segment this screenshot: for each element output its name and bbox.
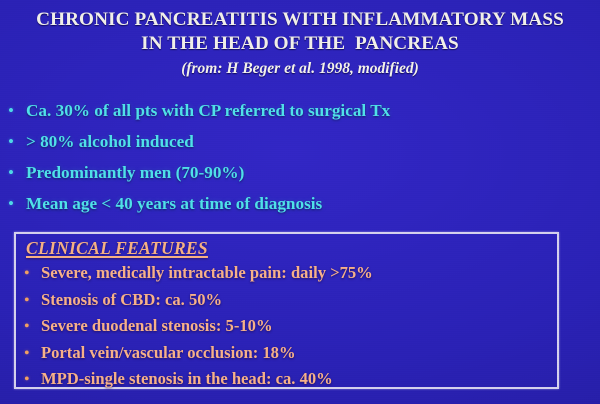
bullet-dot-icon: • [6,160,26,186]
bullet-dot-icon: • [6,98,26,124]
feature-item-text: Portal vein/vascular occlusion: 18% [41,340,554,365]
feature-item-text: Severe duodenal stenosis: 5-10% [41,313,554,338]
feature-item-text: Severe, medically intractable pain: dail… [41,260,554,285]
clinical-features-box: CLINICAL FEATURES • Severe, medically in… [14,232,559,389]
bullet-dot-icon: • [22,314,41,339]
clinical-features-heading: CLINICAL FEATURES [26,237,208,259]
bullet-dot-icon: • [6,191,26,217]
bullet-dot-icon: • [22,367,41,392]
bullet-dot-icon: • [6,129,26,155]
feature-item-text: Stenosis of CBD: ca. 50% [41,287,554,312]
slide-title-line-1: CHRONIC PANCREATITIS WITH INFLAMMATORY M… [0,8,600,32]
feature-list-item: • Stenosis of CBD: ca. 50% [22,287,554,314]
intro-bullet-text: Mean age < 40 years at time of diagnosis [26,191,594,217]
slide-title-block: CHRONIC PANCREATITIS WITH INFLAMMATORY M… [0,8,600,79]
bullet-dot-icon: • [22,261,41,286]
intro-bullet-text: Predominantly men (70-90%) [26,160,594,186]
intro-bullet-item: • Predominantly men (70-90%) [6,160,594,191]
slide-title-line-2: IN THE HEAD OF THE PANCREAS [0,32,600,56]
intro-bullet-text: Ca. 30% of all pts with CP referred to s… [26,98,594,124]
feature-item-text: MPD-single stenosis in the head: ca. 40% [41,366,554,391]
clinical-features-list: • Severe, medically intractable pain: da… [22,260,554,393]
slide-attribution: (from: H Beger et al. 1998, modified) [0,58,600,79]
intro-bullet-item: • Mean age < 40 years at time of diagnos… [6,191,594,222]
intro-bullet-item: • Ca. 30% of all pts with CP referred to… [6,98,594,129]
intro-bullet-item: • > 80% alcohol induced [6,129,594,160]
feature-list-item: • Severe duodenal stenosis: 5-10% [22,313,554,340]
feature-list-item: • Portal vein/vascular occlusion: 18% [22,340,554,367]
intro-bullet-text: > 80% alcohol induced [26,129,594,155]
intro-bullet-list: • Ca. 30% of all pts with CP referred to… [6,98,594,222]
feature-list-item: • Severe, medically intractable pain: da… [22,260,554,287]
presentation-slide: CHRONIC PANCREATITIS WITH INFLAMMATORY M… [0,0,600,404]
bullet-dot-icon: • [22,341,41,366]
bullet-dot-icon: • [22,288,41,313]
feature-list-item: • MPD-single stenosis in the head: ca. 4… [22,366,554,393]
